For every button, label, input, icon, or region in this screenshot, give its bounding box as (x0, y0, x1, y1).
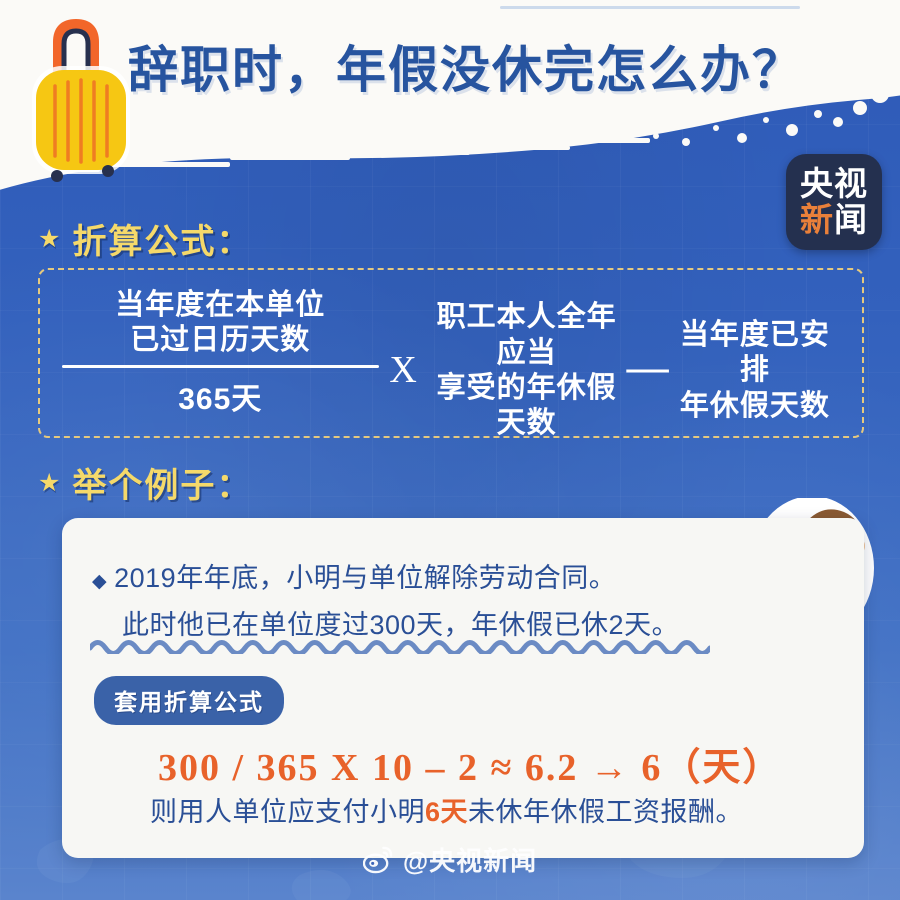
logo-text-yangshi: 央视 (800, 167, 868, 202)
section-heading-example: ★ 举个例子： (38, 458, 252, 507)
footer-handle: @央视新闻 (403, 841, 537, 878)
apply-formula-badge: 套用折算公式 (94, 676, 284, 725)
formula-term-annual-entitlement: 职工本人全年应当 享受的年休假天数 (428, 264, 626, 442)
star-icon: ★ (38, 468, 62, 498)
suitcase-icon (18, 14, 144, 186)
logo-line-2: 新 闻 (800, 203, 868, 238)
page-title: 辞职时，年假没休完怎么办？ (128, 44, 818, 97)
wavy-divider (90, 636, 710, 654)
result-highlight-days: 6天 (425, 797, 468, 827)
logo-line-1: 央视 (800, 167, 868, 202)
formula-term-3-line-1: 当年度已安排 (670, 318, 840, 389)
example-line-1-text: 2019年年底，小明与单位解除劳动合同。 (114, 556, 616, 595)
example-card: ◆ 2019年年底，小明与单位解除劳动合同。 此时他已在单位度过300天，年休假… (62, 518, 864, 858)
formula-term-2-line-1: 职工本人全年应当 (428, 300, 626, 371)
formula-term-already-taken: 当年度已安排 年休假天数 (670, 282, 840, 424)
fraction-numerator-line-2: 已过日历天数 (115, 323, 325, 358)
logo-text-xin: 新 (800, 203, 834, 238)
fraction-numerator: 当年度在本单位 已过日历天数 (115, 288, 325, 359)
formula-term-3-line-2: 年休假天数 (670, 389, 840, 424)
section-heading-formula: ★ 折算公式： (38, 214, 252, 263)
section-heading-example-label: 举个例子： (72, 458, 252, 507)
diamond-bullet-icon: ◆ (92, 570, 107, 593)
formula-box: 当年度在本单位 已过日历天数 365天 X 职工本人全年应当 享受的年休假天数 … (38, 268, 864, 438)
footer: @央视新闻 (0, 841, 900, 878)
fraction-denominator: 365天 (178, 374, 262, 418)
result-sentence: 则用人单位应支付小明6天未休年休假工资报酬。 (150, 790, 743, 829)
weibo-icon (363, 844, 394, 875)
formula-fraction: 当年度在本单位 已过日历天数 365天 (62, 288, 379, 419)
infographic-poster: 辞职时，年假没休完怎么办？ 央视 新 闻 ★ 折算公式： 当年度在本单位 已过日… (0, 0, 900, 900)
example-line-1: ◆ 2019年年底，小明与单位解除劳动合同。 (92, 556, 616, 595)
fraction-bar (62, 365, 379, 368)
result-prefix: 则用人单位应支付小明 (150, 797, 425, 827)
formula-term-2-line-2: 享受的年休假天数 (428, 371, 626, 442)
calculation-expression: 300 / 365 X 10 – 2 ≈ 6.2 → 6（天） (158, 736, 782, 791)
multiply-operator: X (379, 314, 428, 392)
section-heading-formula-label: 折算公式： (72, 214, 252, 263)
logo-text-wen: 闻 (834, 203, 868, 238)
result-suffix: 未休年休假工资报酬。 (468, 797, 743, 827)
cctv-news-logo: 央视 新 闻 (786, 154, 882, 250)
star-icon: ★ (38, 224, 62, 254)
minus-operator: — (626, 314, 670, 392)
fraction-numerator-line-1: 当年度在本单位 (115, 288, 325, 323)
